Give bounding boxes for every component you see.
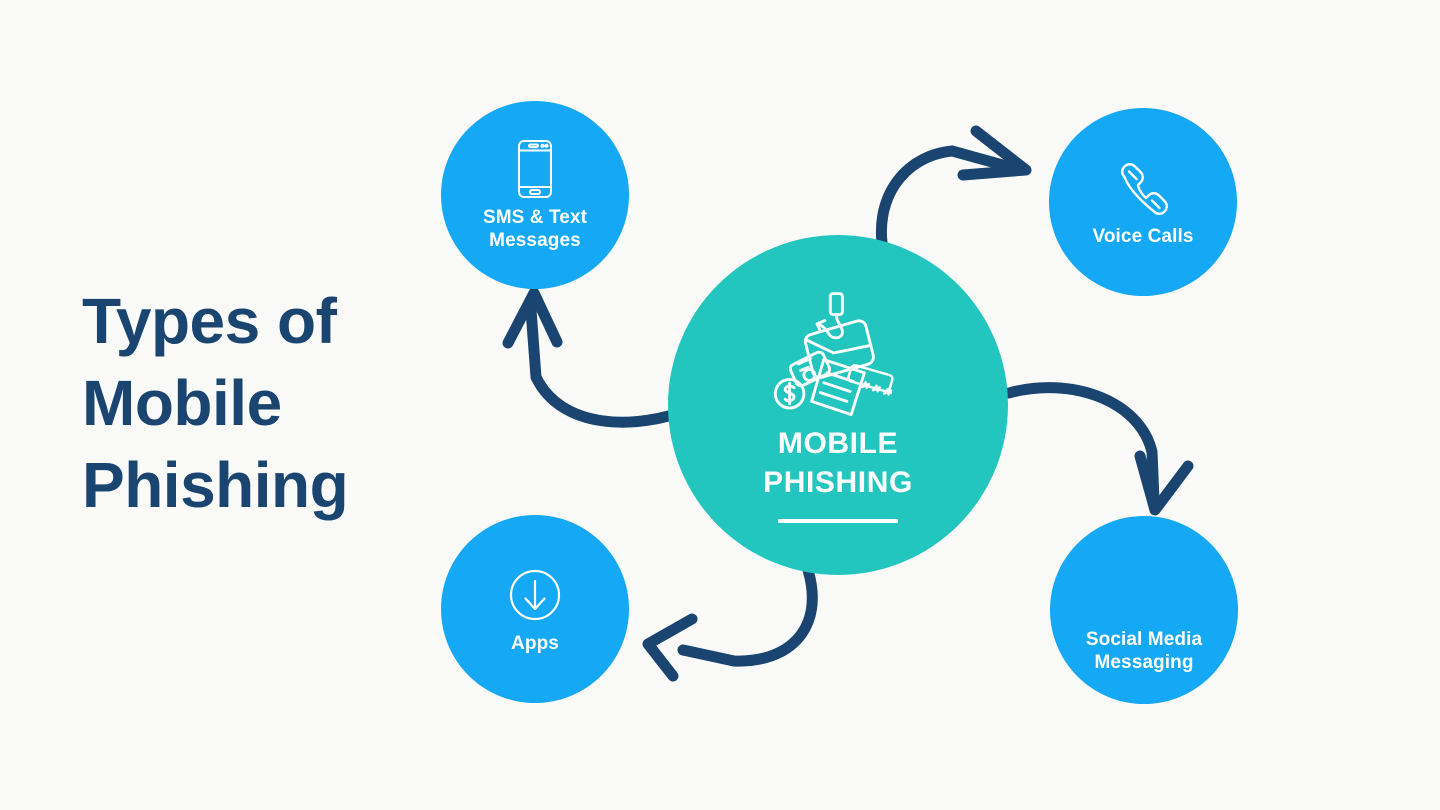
arrow-center-to-sms xyxy=(508,293,693,422)
arrow-center-to-apps xyxy=(648,570,812,676)
arrow-center-to-voice xyxy=(881,131,1026,255)
download-circle-icon xyxy=(503,563,567,627)
center-node-underline xyxy=(778,519,898,523)
node-sms-text-messages[interactable]: SMS & Text Messages xyxy=(441,101,629,289)
diagram-canvas: Types of Mobile Phishing xyxy=(0,0,1440,810)
center-node-label: MOBILE PHISHING xyxy=(763,425,913,502)
center-node-mobile-phishing[interactable]: MOBILE PHISHING xyxy=(668,235,1008,575)
node-apps[interactable]: Apps xyxy=(441,515,629,703)
node-voice-label: Voice Calls xyxy=(1092,226,1193,249)
node-social-label: Social Media Messaging xyxy=(1086,629,1202,675)
node-social-media-messaging[interactable]: Social Media Messaging xyxy=(1050,516,1238,704)
node-apps-label: Apps xyxy=(511,633,559,656)
smartphone-icon xyxy=(503,137,567,201)
arrow-center-to-social xyxy=(1009,388,1188,510)
node-sms-label: SMS & Text Messages xyxy=(483,207,587,253)
phishing-hook-envelope-icon xyxy=(772,287,904,419)
phone-handset-icon xyxy=(1111,156,1175,220)
node-voice-calls[interactable]: Voice Calls xyxy=(1049,108,1237,296)
